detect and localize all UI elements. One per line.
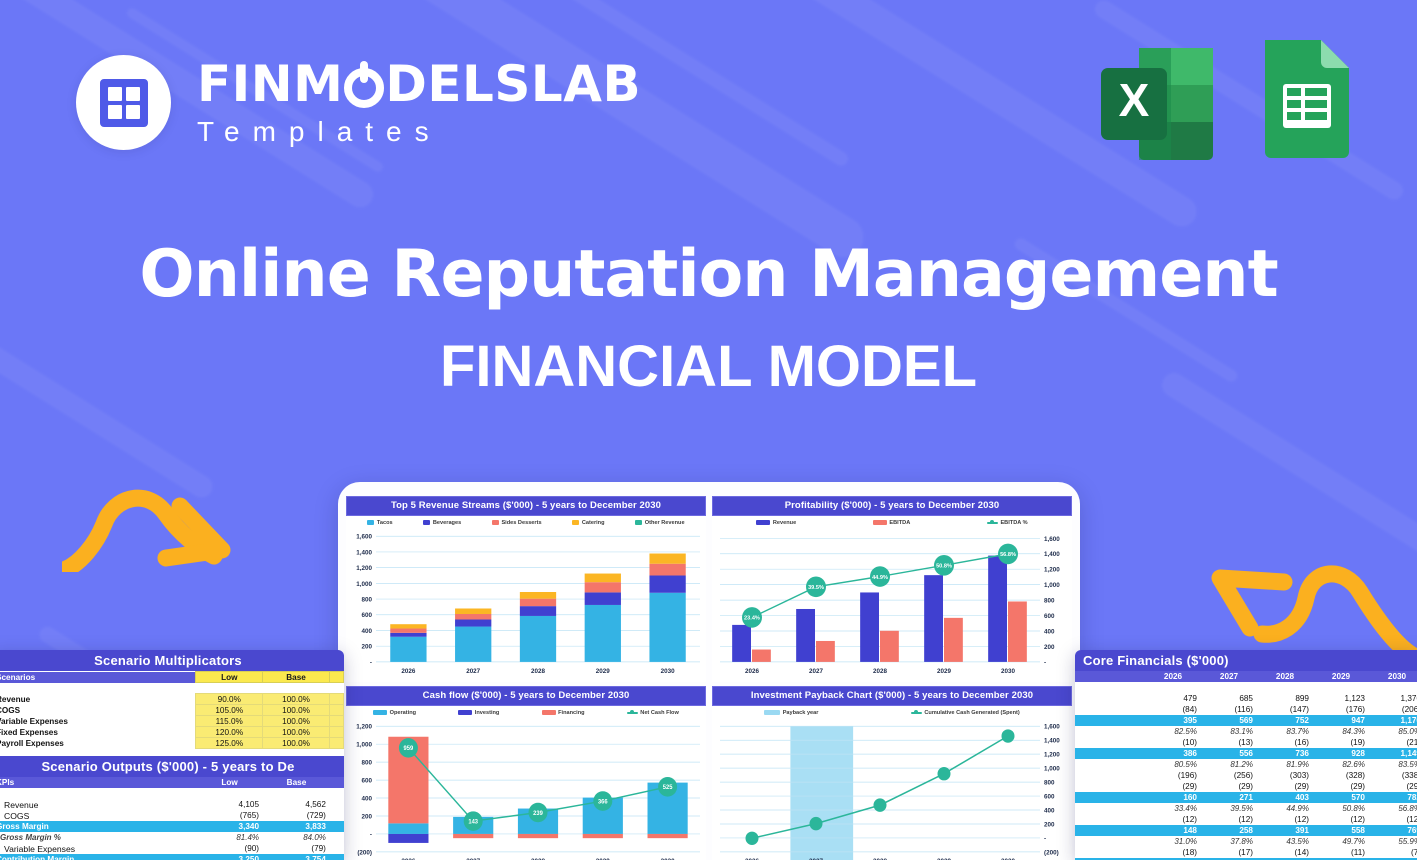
svg-text:1,000: 1,000 [1044, 765, 1060, 772]
svg-text:400: 400 [362, 627, 373, 634]
column-header-low: Low [196, 777, 263, 788]
cell-2028[interactable]: 44.9% [1257, 803, 1313, 814]
table-header-row: Scenarios Low Base [0, 672, 344, 683]
table-row: Variable Expenses 115.0% 100.0% [0, 716, 344, 727]
table-row: Fixed Expenses 120.0% 100.0% [0, 727, 344, 738]
legend-label: Beverages [433, 520, 461, 526]
svg-text:600: 600 [362, 777, 373, 784]
cell-low[interactable]: (765) [196, 810, 263, 821]
svg-text:-: - [1044, 835, 1046, 842]
svg-text:2030: 2030 [1001, 668, 1015, 675]
cell-base[interactable]: 100.0% [263, 727, 330, 738]
svg-text:2030: 2030 [661, 668, 675, 675]
cell-2027[interactable]: 685 [1201, 693, 1257, 704]
row-label: Contribution Margin [0, 854, 196, 860]
cell-partial[interactable] [329, 738, 343, 749]
table-row: (18)(17)(14)(11)(7) [1075, 847, 1417, 858]
row-label [1075, 836, 1145, 847]
cell-base[interactable]: 4,562 [263, 799, 330, 810]
svg-text:1,600: 1,600 [1044, 535, 1060, 542]
cell-2030[interactable]: 56.8% [1369, 803, 1417, 814]
table-row: (196)(256)(303)(328)(338) [1075, 770, 1417, 781]
cell-partial[interactable] [329, 705, 343, 716]
table-row: Gross Margin % 81.4% 84.0% [0, 832, 344, 843]
column-header-2026: 2026 [1145, 671, 1201, 682]
cell-2027[interactable]: (29) [1201, 781, 1257, 792]
cell-2026[interactable]: 148 [1145, 825, 1201, 836]
row-label [1075, 847, 1145, 858]
svg-text:39.5%: 39.5% [808, 584, 824, 590]
cell-2027[interactable]: 81.2% [1201, 759, 1257, 770]
cell-2027[interactable]: 271 [1201, 792, 1257, 803]
core-financials-table: 202620272028202920304796858991,1231,376(… [1075, 671, 1417, 860]
row-label: COGS [0, 810, 196, 821]
cell-low[interactable]: 120.0% [196, 727, 263, 738]
svg-text:1,400: 1,400 [1044, 737, 1060, 744]
grid-squares-icon [100, 79, 148, 127]
cell-2030[interactable]: (206) [1369, 704, 1417, 715]
cell-2028[interactable]: (12) [1257, 814, 1313, 825]
svg-text:(200): (200) [357, 849, 372, 856]
row-label: Gross Margin % [0, 832, 196, 843]
brand-tagline: Templates [197, 118, 641, 146]
cell-2027[interactable]: (17) [1201, 847, 1257, 858]
cell-2027[interactable]: (13) [1201, 737, 1257, 748]
cell-2028[interactable]: 83.7% [1257, 726, 1313, 737]
cell-base[interactable]: 84.0% [263, 832, 330, 843]
cell-2026[interactable]: 395 [1145, 715, 1201, 726]
cell-2026[interactable]: 31.0% [1145, 836, 1201, 847]
cell-2028[interactable]: 752 [1257, 715, 1313, 726]
table-row: 3955697529471,170 [1075, 715, 1417, 726]
legend-label: Investing [475, 710, 500, 716]
cell-base[interactable]: (79) [263, 843, 330, 854]
cell-low[interactable]: 3,250 [196, 854, 263, 860]
legend-label: EBITDA [889, 520, 910, 526]
cell-2027[interactable]: (116) [1201, 704, 1257, 715]
row-label [1075, 814, 1145, 825]
column-header-partial [329, 672, 343, 683]
cell-2028[interactable]: (147) [1257, 704, 1313, 715]
cell-2030[interactable]: 1,376 [1369, 693, 1417, 704]
svg-text:X: X [1119, 74, 1150, 126]
svg-text:800: 800 [1044, 779, 1055, 786]
svg-text:2029: 2029 [937, 668, 951, 675]
scenario-outputs-title: Scenario Outputs ($'000) - 5 years to De [0, 756, 344, 777]
svg-text:23.4%: 23.4% [744, 615, 760, 621]
svg-text:400: 400 [1044, 807, 1055, 814]
cell-2027[interactable]: (12) [1201, 814, 1257, 825]
row-label: Revenue [0, 799, 196, 810]
chart-cash-flow[interactable]: Cash flow ($'000) - 5 years to December … [346, 686, 706, 860]
table-row: 4796858991,1231,376 [1075, 693, 1417, 704]
svg-text:525: 525 [663, 785, 673, 791]
cell-2030[interactable]: 55.9% [1369, 836, 1417, 847]
table-header-row: KPIs Low Base [0, 777, 344, 788]
column-header-2027: 2027 [1201, 671, 1257, 682]
cell-2029[interactable]: 84.3% [1313, 726, 1369, 737]
cell-partial[interactable] [329, 694, 343, 705]
svg-text:1,200: 1,200 [1044, 566, 1060, 573]
cell-2027[interactable]: 37.8% [1201, 836, 1257, 847]
cell-2027[interactable]: 258 [1201, 825, 1257, 836]
svg-text:366: 366 [598, 799, 608, 805]
cell-2028[interactable]: (14) [1257, 847, 1313, 858]
chart-title: Profitability ($'000) - 5 years to Decem… [712, 496, 1072, 516]
cell-2028[interactable]: 403 [1257, 792, 1313, 803]
chart-legend: Revenue EBITDA EBITDA % [712, 516, 1072, 528]
row-label [1075, 715, 1145, 726]
column-header-scenarios: Scenarios [0, 672, 196, 683]
scenario-outputs-table: KPIs Low Base Revenue 4,105 4,562 COGS (… [0, 777, 344, 860]
svg-text:600: 600 [362, 612, 373, 619]
cell-2029[interactable]: 1,123 [1313, 693, 1369, 704]
svg-text:200: 200 [1044, 643, 1055, 650]
cell-base[interactable]: 3,833 [263, 821, 330, 832]
legend-label: Net Cash Flow [640, 710, 679, 716]
column-header-blank [1075, 671, 1145, 682]
cell-2026[interactable]: 82.5% [1145, 726, 1201, 737]
svg-text:(200): (200) [1044, 849, 1059, 856]
svg-text:200: 200 [1044, 821, 1055, 828]
cell-low[interactable]: 4,105 [196, 799, 263, 810]
chart-profitability[interactable]: Profitability ($'000) - 5 years to Decem… [712, 496, 1072, 682]
svg-text:50.8%: 50.8% [936, 563, 952, 569]
table-row: 82.5%83.1%83.7%84.3%85.0% [1075, 726, 1417, 737]
scenario-spreadsheet-panel[interactable]: Scenario Multiplicators Scenarios Low Ba… [0, 650, 344, 860]
legend-label: Operating [390, 710, 416, 716]
cell-2030[interactable]: (29) [1369, 781, 1417, 792]
headline-title: Online Reputation Management [0, 240, 1417, 310]
svg-text:800: 800 [362, 596, 373, 603]
cell-2030[interactable]: 769 [1369, 825, 1417, 836]
cell-partial[interactable] [329, 727, 343, 738]
cell-2029[interactable]: (12) [1313, 814, 1369, 825]
cell-base[interactable]: 100.0% [263, 738, 330, 749]
svg-text:2029: 2029 [596, 668, 610, 675]
row-label [1075, 825, 1145, 836]
cell-base[interactable]: (729) [263, 810, 330, 821]
cell-low[interactable]: 115.0% [196, 716, 263, 727]
cell-2027[interactable]: 83.1% [1201, 726, 1257, 737]
brand-o-mark [343, 59, 385, 109]
cell-partial[interactable] [330, 810, 344, 821]
legend-label: Other Revenue [645, 520, 685, 526]
svg-text:600: 600 [1044, 793, 1055, 800]
chart-title: Top 5 Revenue Streams ($'000) - 5 years … [346, 496, 706, 516]
file-type-icons: X [1097, 34, 1357, 169]
table-row: 31.0%37.8%43.5%49.7%55.9% [1075, 836, 1417, 847]
svg-text:1,200: 1,200 [1044, 751, 1060, 758]
table-row: 148258391558769 [1075, 825, 1417, 836]
core-financials-panel[interactable]: Core Financials ($'000) 2026202720282029… [1075, 650, 1417, 860]
cell-2026[interactable]: 33.4% [1145, 803, 1201, 814]
table-row: (10)(13)(16)(19)(21) [1075, 737, 1417, 748]
cell-2030[interactable]: (21) [1369, 737, 1417, 748]
row-label: Revenue [0, 694, 196, 705]
row-label: COGS [0, 705, 196, 716]
column-header-2029: 2029 [1313, 671, 1369, 682]
svg-text:800: 800 [1044, 597, 1055, 604]
svg-text:1,600: 1,600 [356, 533, 372, 540]
chart-plot-area: -2004006008001,0001,2001,4001,6002026202… [712, 528, 1072, 683]
svg-text:1,000: 1,000 [356, 741, 372, 748]
svg-text:2028: 2028 [873, 668, 887, 675]
table-row: 33.4%39.5%44.9%50.8%56.8% [1075, 803, 1417, 814]
cell-2029[interactable]: 947 [1313, 715, 1369, 726]
cell-2029[interactable]: 82.6% [1313, 759, 1369, 770]
legend-label: Tacos [377, 520, 393, 526]
svg-text:2028: 2028 [531, 668, 545, 675]
row-label: Variable Expenses [0, 843, 196, 854]
cell-2029[interactable]: 558 [1313, 825, 1369, 836]
svg-text:1,200: 1,200 [356, 565, 372, 572]
cell-2029[interactable]: (176) [1313, 704, 1369, 715]
legend-label: Catering [582, 520, 605, 526]
google-sheets-icon [1257, 34, 1357, 169]
svg-text:-: - [370, 831, 372, 838]
core-financials-title: Core Financials ($'000) [1075, 650, 1417, 671]
chart-title: Cash flow ($'000) - 5 years to December … [346, 686, 706, 706]
table-row: COGS 105.0% 100.0% [0, 705, 344, 716]
cell-2027[interactable]: 569 [1201, 715, 1257, 726]
cell-partial[interactable] [330, 799, 344, 810]
page-headline: Online Reputation Management FINANCIAL M… [0, 240, 1417, 396]
chart-legend: Payback year Cumulative Cash Generated (… [712, 706, 1072, 718]
table-row: Revenue 4,105 4,562 [0, 799, 344, 810]
cell-low[interactable]: 105.0% [196, 705, 263, 716]
row-label [1075, 748, 1145, 759]
chart-top-5-revenue-streams[interactable]: Top 5 Revenue Streams ($'000) - 5 years … [346, 496, 706, 682]
svg-text:800: 800 [362, 759, 373, 766]
svg-text:2027: 2027 [809, 668, 823, 675]
cell-2028[interactable]: (16) [1257, 737, 1313, 748]
table-row: Gross Margin 3,340 3,833 [0, 821, 344, 832]
row-label [1075, 759, 1145, 770]
chart-legend: Operating Investing Financing Net Cash F… [346, 706, 706, 718]
brand-logo: FINM DELSLAB Templates [76, 55, 641, 150]
cell-2030[interactable]: 1,170 [1369, 715, 1417, 726]
legend-label: Payback year [783, 710, 819, 716]
cell-2026[interactable]: (29) [1145, 781, 1201, 792]
cell-2027[interactable]: 39.5% [1201, 803, 1257, 814]
svg-text:44.9%: 44.9% [872, 574, 888, 580]
scenario-multiplicators-table: Scenarios Low Base Revenue 90.0% 100.0% … [0, 671, 344, 749]
cell-2028[interactable]: 43.5% [1257, 836, 1313, 847]
cell-base[interactable]: 100.0% [263, 694, 330, 705]
svg-text:1,400: 1,400 [356, 549, 372, 556]
row-label [1075, 781, 1145, 792]
cell-2028[interactable]: (29) [1257, 781, 1313, 792]
svg-text:1,000: 1,000 [1044, 582, 1060, 589]
row-label: Gross Margin [0, 821, 196, 832]
brand-name: FINM DELSLAB [197, 59, 641, 109]
column-header-2028: 2028 [1257, 671, 1313, 682]
svg-text:1,200: 1,200 [356, 723, 372, 730]
chart-investment-payback[interactable]: Investment Payback Chart ($'000) - 5 yea… [712, 686, 1072, 860]
cell-partial[interactable] [330, 821, 344, 832]
chart-legend: Tacos Beverages Sides Desserts Catering … [346, 516, 706, 528]
legend-label: EBITDA % [1000, 520, 1027, 526]
excel-icon: X [1097, 34, 1217, 169]
table-row: COGS (765) (729) [0, 810, 344, 821]
legend-label: Cumulative Cash Generated (Spent) [924, 710, 1019, 716]
svg-text:959: 959 [404, 746, 414, 752]
legend-label: Revenue [773, 520, 796, 526]
table-row: 3865567369281,149 [1075, 748, 1417, 759]
svg-text:400: 400 [1044, 628, 1055, 635]
svg-text:400: 400 [362, 795, 373, 802]
logo-circle [76, 55, 171, 150]
column-header-kpis: KPIs [0, 777, 196, 788]
brand-text: FINM DELSLAB Templates [197, 59, 641, 146]
row-label [1075, 737, 1145, 748]
column-header-2030: 2030 [1369, 671, 1417, 682]
legend-label: Financing [558, 710, 584, 716]
svg-text:-: - [370, 659, 372, 666]
svg-text:1,600: 1,600 [1044, 723, 1060, 730]
cell-partial[interactable] [330, 843, 344, 854]
row-label [1075, 803, 1145, 814]
cell-partial[interactable] [330, 854, 344, 860]
row-label: Payroll Expenses [0, 738, 196, 749]
cell-2026[interactable]: (12) [1145, 814, 1201, 825]
cell-low[interactable]: 125.0% [196, 738, 263, 749]
column-header-low: Low [196, 672, 263, 683]
svg-text:1,400: 1,400 [1044, 551, 1060, 558]
cell-2027[interactable]: (256) [1201, 770, 1257, 781]
chart-plot-area: (200)-2004006008001,0001,2001,4001,60020… [712, 718, 1072, 860]
cell-base[interactable]: 100.0% [263, 716, 330, 727]
column-header-partial [330, 777, 344, 788]
cell-2030[interactable]: 83.5% [1369, 759, 1417, 770]
cell-2029[interactable]: (328) [1313, 770, 1369, 781]
cell-2026[interactable]: 160 [1145, 792, 1201, 803]
cell-base[interactable]: 100.0% [263, 705, 330, 716]
cell-low[interactable]: (90) [196, 843, 263, 854]
cell-2029[interactable]: (19) [1313, 737, 1369, 748]
cell-2026[interactable]: (196) [1145, 770, 1201, 781]
cell-2026[interactable]: 80.5% [1145, 759, 1201, 770]
legend-label: Sides Desserts [501, 520, 541, 526]
table-row: (12)(12)(12)(12)(12) [1075, 814, 1417, 825]
table-row: Variable Expenses (90) (79) [0, 843, 344, 854]
cell-partial[interactable] [329, 716, 343, 727]
svg-text:200: 200 [362, 643, 373, 650]
cell-2026[interactable]: 386 [1145, 748, 1201, 759]
row-label: Fixed Expenses [0, 727, 196, 738]
svg-text:143: 143 [468, 819, 478, 825]
cell-2030[interactable]: 782 [1369, 792, 1417, 803]
cell-2029[interactable]: (11) [1313, 847, 1369, 858]
cell-2028[interactable]: 736 [1257, 748, 1313, 759]
cell-low[interactable]: 81.4% [196, 832, 263, 843]
cell-2029[interactable]: 50.8% [1313, 803, 1369, 814]
chart-title: Investment Payback Chart ($'000) - 5 yea… [712, 686, 1072, 706]
cell-2029[interactable]: (29) [1313, 781, 1369, 792]
cell-2027[interactable]: 556 [1201, 748, 1257, 759]
cell-2026[interactable]: 479 [1145, 693, 1201, 704]
row-label [1075, 770, 1145, 781]
cell-2028[interactable]: (303) [1257, 770, 1313, 781]
cell-2029[interactable]: 570 [1313, 792, 1369, 803]
cell-2030[interactable]: 85.0% [1369, 726, 1417, 737]
table-row: (29)(29)(29)(29)(29) [1075, 781, 1417, 792]
cell-2030[interactable]: 1,149 [1369, 748, 1417, 759]
row-label [1075, 726, 1145, 737]
svg-text:1,000: 1,000 [356, 580, 372, 587]
headline-subtitle: FINANCIAL MODEL [0, 338, 1417, 396]
cell-2029[interactable]: 928 [1313, 748, 1369, 759]
row-label: Variable Expenses [0, 716, 196, 727]
cell-2028[interactable]: 899 [1257, 693, 1313, 704]
cell-2030[interactable]: (338) [1369, 770, 1417, 781]
cell-partial[interactable] [330, 832, 344, 843]
cell-2029[interactable]: 49.7% [1313, 836, 1369, 847]
svg-text:600: 600 [1044, 612, 1055, 619]
cell-2026[interactable]: (84) [1145, 704, 1201, 715]
svg-text:239: 239 [533, 810, 543, 816]
dashboard-card: Top 5 Revenue Streams ($'000) - 5 years … [338, 482, 1080, 860]
chart-plot-area: -2004006008001,0001,2001,4001,6002026202… [346, 528, 706, 683]
table-row: 160271403570782 [1075, 792, 1417, 803]
cell-low[interactable]: 90.0% [196, 694, 263, 705]
column-header-base: Base [263, 777, 330, 788]
table-row: Payroll Expenses 125.0% 100.0% [0, 738, 344, 749]
cell-base[interactable]: 3,754 [263, 854, 330, 860]
chart-plot-area: (200)-2004006008001,0001,200202620272028… [346, 718, 706, 860]
row-label [1075, 792, 1145, 803]
svg-text:56.8%: 56.8% [1000, 552, 1016, 558]
cell-2028[interactable]: 391 [1257, 825, 1313, 836]
cell-low[interactable]: 3,340 [196, 821, 263, 832]
table-row: Contribution Margin 3,250 3,754 [0, 854, 344, 860]
cell-2026[interactable]: (10) [1145, 737, 1201, 748]
scenario-multiplicators-title: Scenario Multiplicators [0, 650, 344, 671]
row-label [1075, 704, 1145, 715]
cell-2028[interactable]: 81.9% [1257, 759, 1313, 770]
table-row: Revenue 90.0% 100.0% [0, 694, 344, 705]
svg-text:200: 200 [362, 813, 373, 820]
svg-text:2026: 2026 [745, 668, 759, 675]
cell-2030[interactable]: (7) [1369, 847, 1417, 858]
cell-2026[interactable]: (18) [1145, 847, 1201, 858]
svg-text:2026: 2026 [401, 668, 415, 675]
cell-2030[interactable]: (12) [1369, 814, 1417, 825]
table-header-row: 20262027202820292030 [1075, 671, 1417, 682]
column-header-base: Base [263, 672, 330, 683]
row-label [1075, 693, 1145, 704]
curved-arrow-right-icon [62, 452, 242, 577]
table-row: (84)(116)(147)(176)(206) [1075, 704, 1417, 715]
table-row: 80.5%81.2%81.9%82.6%83.5% [1075, 759, 1417, 770]
svg-text:-: - [1044, 659, 1046, 666]
svg-text:2027: 2027 [466, 668, 480, 675]
